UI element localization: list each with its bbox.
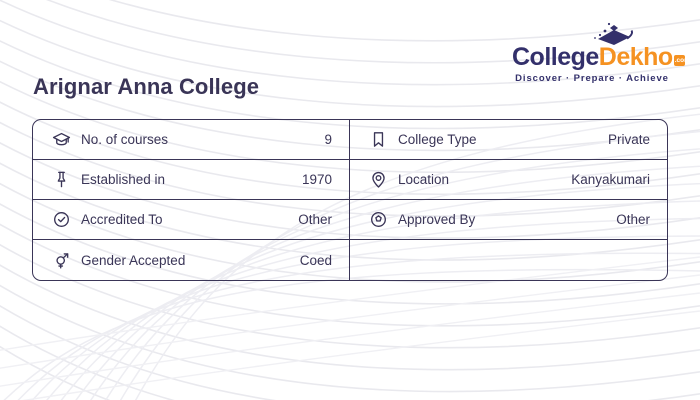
logo-cap-wrap (512, 22, 672, 44)
row-label: No. of courses (78, 132, 324, 147)
table-row[interactable]: No. of courses 9 (33, 120, 349, 160)
table-row[interactable]: Accredited To Other (33, 200, 349, 240)
logo-wordmark: CollegeDekho.com (512, 45, 685, 70)
info-table: No. of courses 9 Established in 1970 (32, 119, 668, 281)
graduation-cap-icon (578, 22, 636, 46)
row-value: Coed (300, 253, 332, 268)
award-badge-icon (369, 210, 395, 229)
info-table-right-column: College Type Private Location Kanyakumar… (350, 120, 667, 280)
row-value: 1970 (302, 172, 332, 187)
row-value: Other (616, 212, 650, 227)
row-label: College Type (395, 132, 608, 147)
check-circle-icon (52, 210, 78, 229)
graduation-cap-icon (52, 130, 78, 149)
table-row[interactable]: College Type Private (350, 120, 667, 160)
row-label: Approved By (395, 212, 616, 227)
row-label: Location (395, 172, 571, 187)
college-info-card: CollegeDekho.com Discover · Prepare · Ac… (0, 0, 700, 400)
table-row[interactable]: Established in 1970 (33, 160, 349, 200)
row-label: Accredited To (78, 212, 298, 227)
row-value: Kanyakumari (571, 172, 650, 187)
logo-word-college: College (512, 43, 599, 71)
table-row[interactable]: Location Kanyakumari (350, 160, 667, 200)
logo-dotcom-badge: .com (674, 55, 685, 66)
page-title: Arignar Anna College (33, 74, 259, 100)
row-value: 9 (324, 132, 332, 147)
table-row[interactable]: Gender Accepted Coed (33, 240, 349, 280)
row-value: Other (298, 212, 332, 227)
table-row[interactable]: Approved By Other (350, 200, 667, 240)
map-pin-icon (369, 170, 395, 189)
gender-icon (52, 251, 78, 270)
info-table-left-column: No. of courses 9 Established in 1970 (33, 120, 350, 280)
row-label: Established in (78, 172, 302, 187)
table-row-empty (350, 240, 667, 280)
pushpin-icon (52, 170, 78, 189)
row-label: Gender Accepted (78, 253, 300, 268)
logo-tagline: Discover · Prepare · Achieve (512, 74, 672, 84)
bookmark-icon (369, 130, 395, 149)
row-value: Private (608, 132, 650, 147)
logo-word-dekho: Dekho (599, 43, 673, 71)
collegedekho-logo[interactable]: CollegeDekho.com Discover · Prepare · Ac… (512, 22, 672, 84)
